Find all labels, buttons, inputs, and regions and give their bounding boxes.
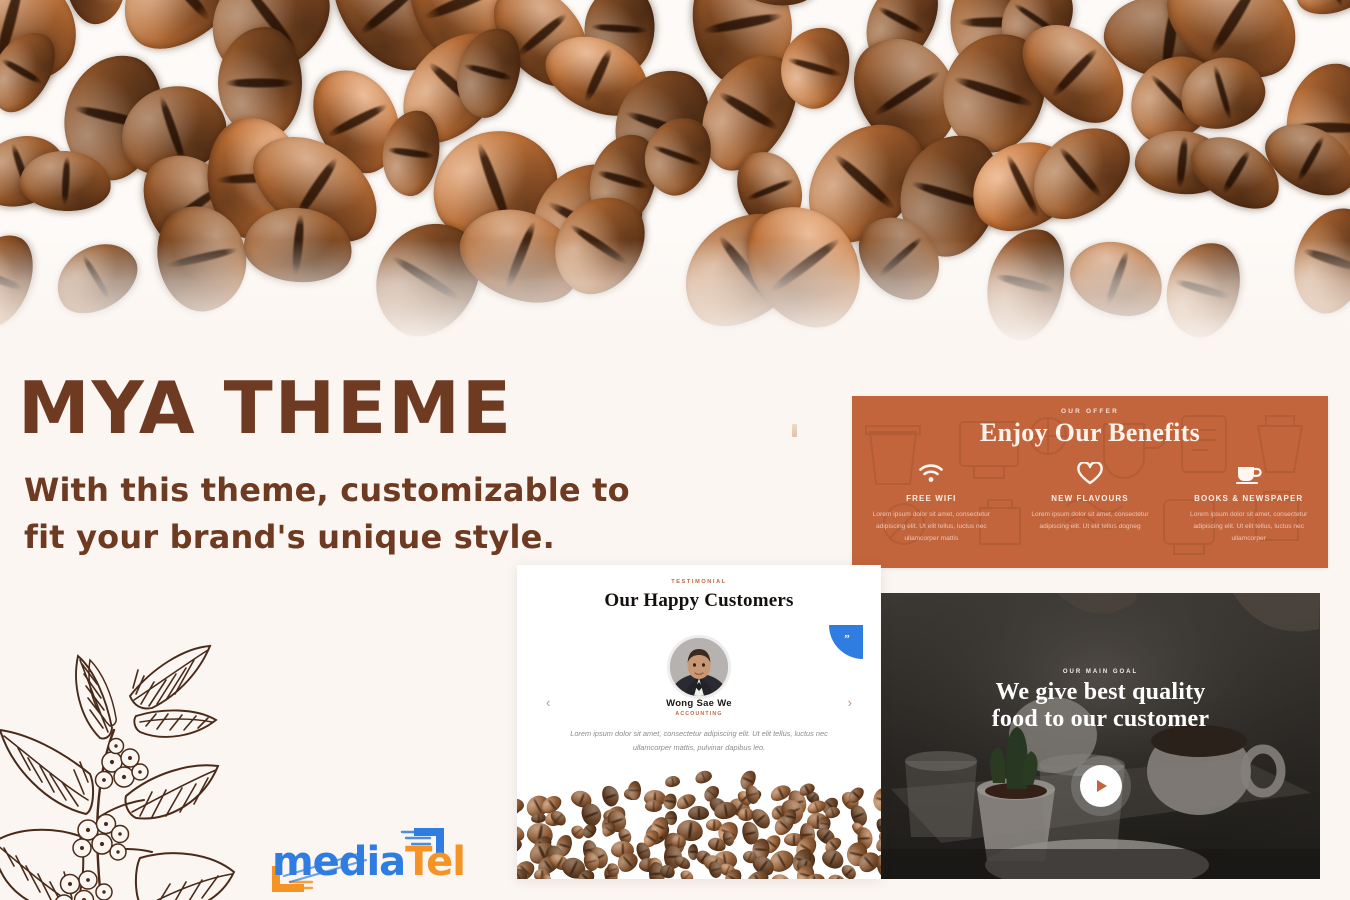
slide-canvas: MYA THEME With this theme, customizable … <box>0 0 1350 900</box>
testimonial-card: TESTIMONIAL Our Happy Customers ” Wong S… <box>517 565 881 879</box>
benefit-item-new-flavours: NEW FLAVOURS Lorem ipsum dolor sit amet,… <box>1011 458 1170 546</box>
logo-word-media: media <box>272 839 405 885</box>
benefit-description: Lorem ipsum dolor sit amet, consectetur … <box>866 509 997 546</box>
logo-word-tel: Tel <box>405 839 465 885</box>
benefit-name: NEW FLAVOURS <box>1025 494 1156 503</box>
testimonial-beans-image <box>517 767 881 879</box>
quote-symbol: ” <box>844 633 850 645</box>
coffee-plant-illustration <box>0 622 294 900</box>
benefit-item-books-newspaper: BOOKS & NEWSPAPER Lorem ipsum dolor sit … <box>1169 458 1328 546</box>
benefits-title: Enjoy Our Benefits <box>852 418 1328 448</box>
benefit-item-free-wifi: FREE WIFI Lorem ipsum dolor sit amet, co… <box>852 458 1011 546</box>
benefits-panel: OUR OFFER Enjoy Our Benefits FREE WIFI L… <box>852 396 1328 568</box>
mediatel-logo: mediaTel <box>262 826 462 894</box>
hero-subtitle-line-1: With this theme, customizable to <box>24 467 718 513</box>
avatar <box>667 635 731 699</box>
goal-title-line-2: food to our customer <box>881 706 1320 733</box>
hero-subtitle: With this theme, customizable to fit you… <box>24 467 718 560</box>
beans-fade-mask <box>0 240 1350 360</box>
goal-eyebrow: OUR MAIN GOAL <box>881 669 1320 675</box>
quote-icon: ” <box>829 625 863 659</box>
heart-icon <box>1025 458 1156 488</box>
testimonial-eyebrow: TESTIMONIAL <box>517 579 881 585</box>
main-goal-panel: OUR MAIN GOAL We give best quality food … <box>881 593 1320 879</box>
testimonial-quote-line-1: Lorem ipsum dolor sit amet, consectetur … <box>570 729 792 738</box>
wifi-icon <box>866 458 997 488</box>
coffee-beans-hero-image <box>0 0 1350 360</box>
benefit-name: BOOKS & NEWSPAPER <box>1183 494 1314 503</box>
play-icon[interactable] <box>1080 765 1122 807</box>
benefit-name: FREE WIFI <box>866 494 997 503</box>
testimonial-prev-button[interactable]: ‹ <box>546 695 550 710</box>
hero-subtitle-line-2: fit your brand's unique style. <box>24 514 718 560</box>
coffee-cup-icon <box>1183 458 1314 488</box>
logo-wordmark: mediaTel <box>272 842 465 882</box>
goal-title-line-1: We give best quality <box>881 679 1320 706</box>
hero-text-block: MYA THEME With this theme, customizable … <box>18 372 718 560</box>
pointer-artifact <box>792 424 797 437</box>
benefits-eyebrow: OUR OFFER <box>852 408 1328 415</box>
photo-overlay <box>881 593 1320 879</box>
testimonial-person-role: ACCOUNTING <box>517 711 881 717</box>
benefits-items-row: FREE WIFI Lorem ipsum dolor sit amet, co… <box>852 458 1328 546</box>
benefit-description: Lorem ipsum dolor sit amet, consectetur … <box>1025 509 1156 533</box>
testimonial-person-name: Wong Sae We <box>517 698 881 709</box>
testimonial-next-button[interactable]: › <box>848 695 852 710</box>
page-title: MYA THEME <box>18 372 718 445</box>
testimonial-title: Our Happy Customers <box>517 590 881 612</box>
goal-title: We give best quality food to our custome… <box>881 679 1320 734</box>
benefit-description: Lorem ipsum dolor sit amet, consectetur … <box>1183 509 1314 546</box>
testimonial-quote: Lorem ipsum dolor sit amet, consectetur … <box>561 727 837 756</box>
